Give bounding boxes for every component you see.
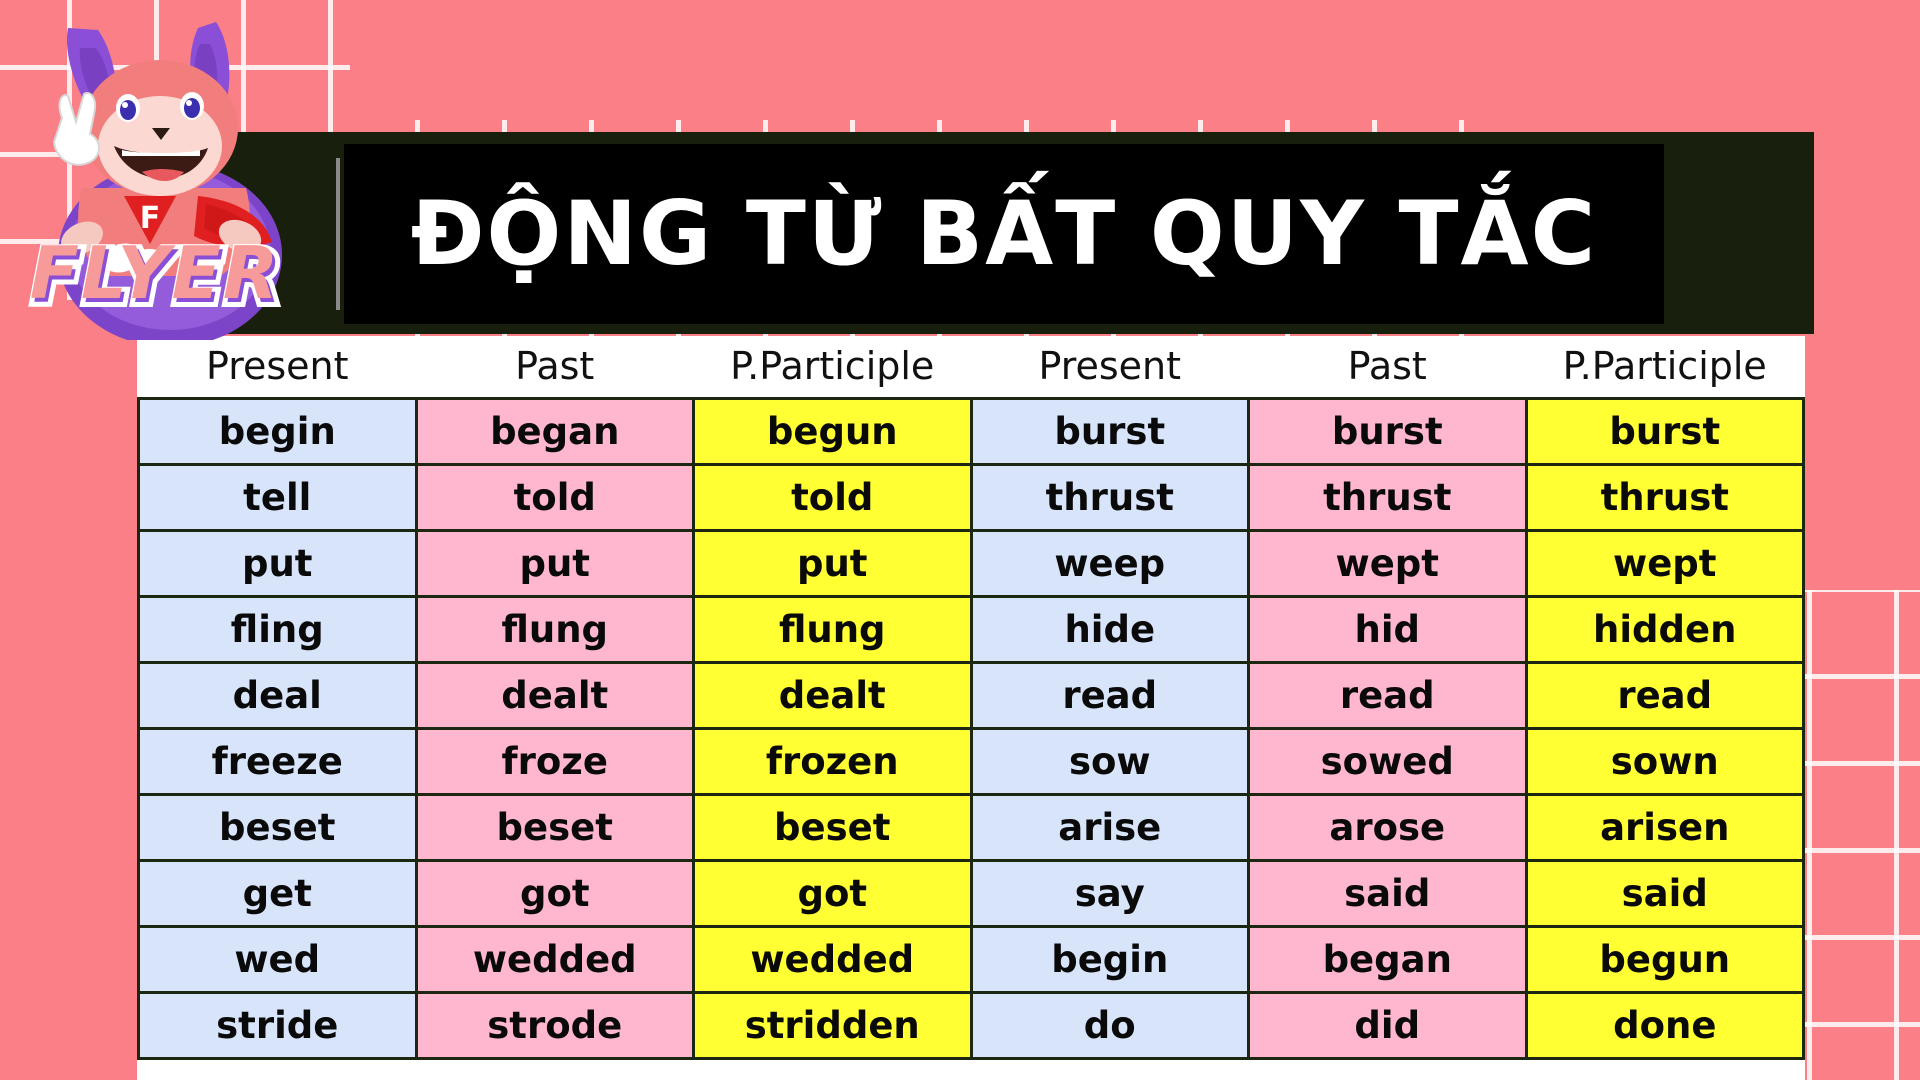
- cell-participle: begun: [1526, 926, 1804, 992]
- cell-present: tell: [139, 464, 417, 530]
- cell-present: begin: [139, 398, 417, 464]
- cell-past: dealt: [416, 662, 694, 728]
- column-header-present-1: Present: [139, 336, 417, 398]
- cell-participle: thrust: [1526, 464, 1804, 530]
- cell-past: arose: [1249, 794, 1527, 860]
- table-row: fling flung flung hide hid hidden: [139, 596, 1804, 662]
- cell-present: deal: [139, 662, 417, 728]
- cell-past: burst: [1249, 398, 1527, 464]
- cell-past: put: [416, 530, 694, 596]
- cell-participle: put: [694, 530, 972, 596]
- cell-past: did: [1249, 992, 1527, 1058]
- cell-present: thrust: [971, 464, 1249, 530]
- cell-participle: hidden: [1526, 596, 1804, 662]
- table-row: stride strode stridden do did done: [139, 992, 1804, 1058]
- cell-past: began: [1249, 926, 1527, 992]
- cell-past: beset: [416, 794, 694, 860]
- cell-present: burst: [971, 398, 1249, 464]
- cell-past: froze: [416, 728, 694, 794]
- cell-present: say: [971, 860, 1249, 926]
- cell-present: do: [971, 992, 1249, 1058]
- table-row: put put put weep wept wept: [139, 530, 1804, 596]
- cell-participle: said: [1526, 860, 1804, 926]
- cell-participle: beset: [694, 794, 972, 860]
- column-header-past-1: Past: [416, 336, 694, 398]
- background-mask-top: [350, 0, 1540, 120]
- title-divider: [336, 158, 340, 310]
- cell-participle: stridden: [694, 992, 972, 1058]
- cell-participle: burst: [1526, 398, 1804, 464]
- cell-past: sowed: [1249, 728, 1527, 794]
- cell-past: thrust: [1249, 464, 1527, 530]
- table-row: deal dealt dealt read read read: [139, 662, 1804, 728]
- cell-past: wept: [1249, 530, 1527, 596]
- cell-present: wed: [139, 926, 417, 992]
- cell-participle: told: [694, 464, 972, 530]
- cell-participle: read: [1526, 662, 1804, 728]
- cell-present: fling: [139, 596, 417, 662]
- title-bar: ĐỘNG TỪ BẤT QUY TẮC: [344, 144, 1664, 324]
- table-row: get got got say said said: [139, 860, 1804, 926]
- table-row: freeze froze frozen sow sowed sown: [139, 728, 1804, 794]
- cell-participle: sown: [1526, 728, 1804, 794]
- table-row: tell told told thrust thrust thrust: [139, 464, 1804, 530]
- column-header-participle-2: P.Participle: [1526, 336, 1804, 398]
- table-row: begin began begun burst burst burst: [139, 398, 1804, 464]
- cell-past: got: [416, 860, 694, 926]
- svg-text:FLYER: FLYER: [30, 231, 281, 315]
- cell-participle: flung: [694, 596, 972, 662]
- cell-past: flung: [416, 596, 694, 662]
- cell-past: wedded: [416, 926, 694, 992]
- cell-past: strode: [416, 992, 694, 1058]
- cell-participle: done: [1526, 992, 1804, 1058]
- cell-participle: wedded: [694, 926, 972, 992]
- table-row: beset beset beset arise arose arisen: [139, 794, 1804, 860]
- cell-participle: wept: [1526, 530, 1804, 596]
- cell-past: began: [416, 398, 694, 464]
- cell-present: get: [139, 860, 417, 926]
- table-header-row: Present Past P.Participle Present Past P…: [139, 336, 1804, 398]
- flyer-logo: F: [10, 0, 330, 340]
- page-title: ĐỘNG TỪ BẤT QUY TẮC: [411, 190, 1597, 278]
- cell-past: told: [416, 464, 694, 530]
- poster-canvas: ĐỘNG TỪ BẤT QUY TẮC F: [0, 0, 1920, 1080]
- cell-participle: begun: [694, 398, 972, 464]
- cell-participle: got: [694, 860, 972, 926]
- cell-present: read: [971, 662, 1249, 728]
- cell-participle: arisen: [1526, 794, 1804, 860]
- cell-past: read: [1249, 662, 1527, 728]
- cell-present: put: [139, 530, 417, 596]
- cell-present: beset: [139, 794, 417, 860]
- irregular-verbs-table-container: Present Past P.Participle Present Past P…: [137, 336, 1805, 1080]
- table-row: wed wedded wedded begin began begun: [139, 926, 1804, 992]
- cell-present: arise: [971, 794, 1249, 860]
- cell-present: stride: [139, 992, 417, 1058]
- cell-present: freeze: [139, 728, 417, 794]
- cell-present: begin: [971, 926, 1249, 992]
- column-header-participle-1: P.Participle: [694, 336, 972, 398]
- cell-participle: dealt: [694, 662, 972, 728]
- cell-participle: frozen: [694, 728, 972, 794]
- table-body: begin began begun burst burst burst tell…: [139, 398, 1804, 1058]
- cell-past: hid: [1249, 596, 1527, 662]
- cell-present: sow: [971, 728, 1249, 794]
- cell-past: said: [1249, 860, 1527, 926]
- column-header-past-2: Past: [1249, 336, 1527, 398]
- column-header-present-2: Present: [971, 336, 1249, 398]
- irregular-verbs-table: Present Past P.Participle Present Past P…: [137, 336, 1805, 1060]
- logo-wordmark: FLYER FLYER: [30, 231, 284, 319]
- cell-present: hide: [971, 596, 1249, 662]
- cell-present: weep: [971, 530, 1249, 596]
